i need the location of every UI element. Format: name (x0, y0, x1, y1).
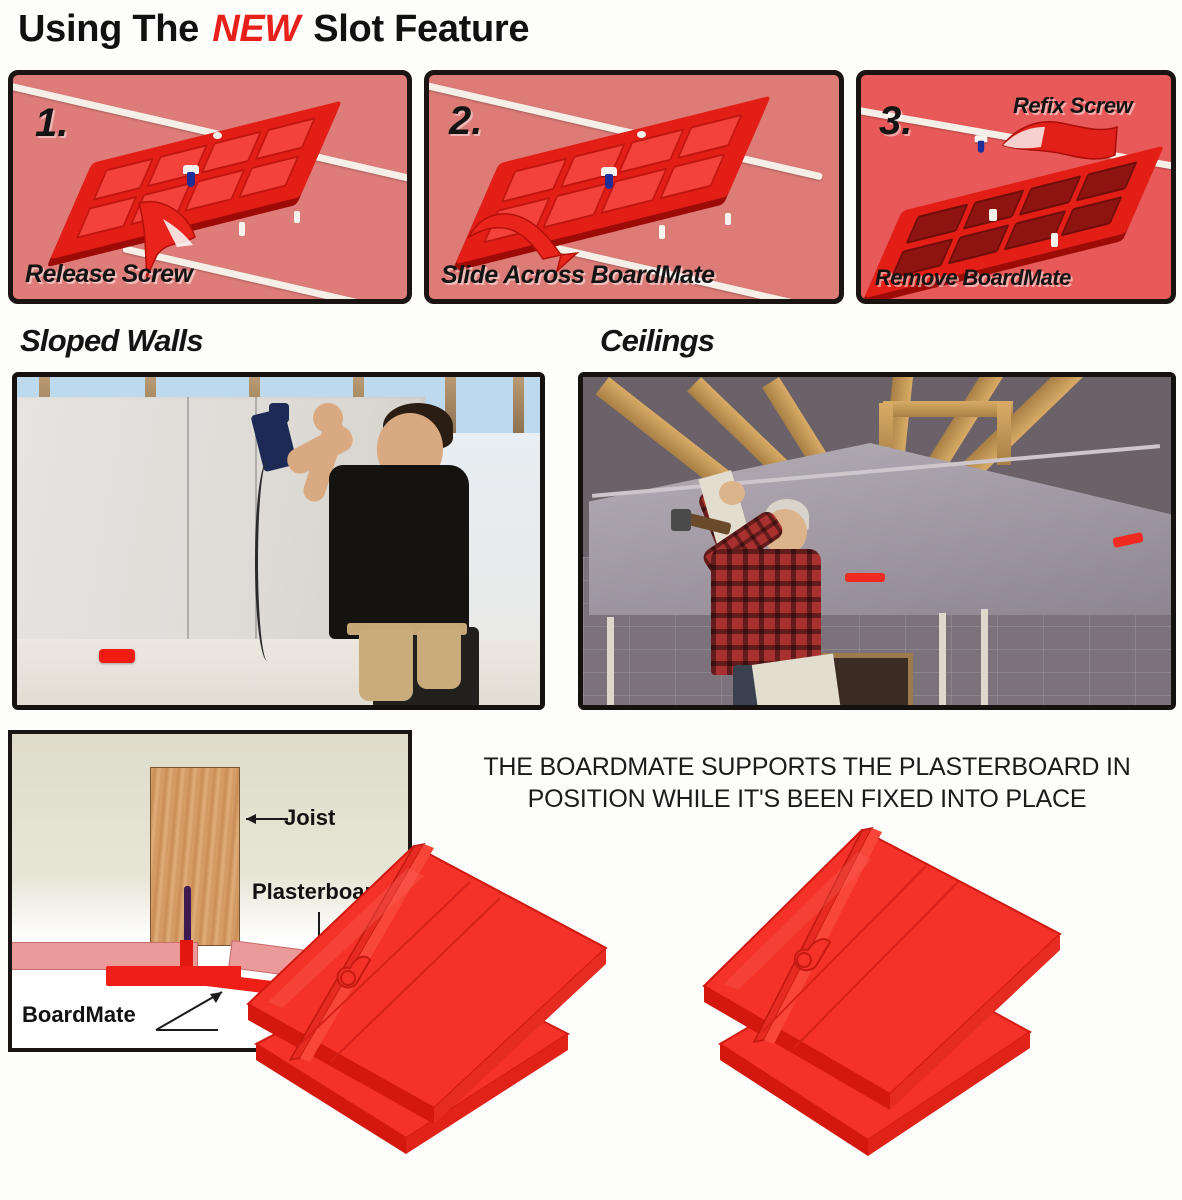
roof-rafter (513, 377, 524, 433)
screw-illustration (601, 167, 617, 189)
worker-shirt (711, 549, 821, 675)
ceiling-joist-cross (997, 403, 1011, 465)
page-title: Using The NEW Slot Feature (18, 8, 529, 51)
refix-screw-sheet (997, 111, 1123, 175)
step-caption-3: Remove BoardMate (875, 265, 1071, 291)
screw-slot-shape (184, 886, 191, 944)
timber-prop (607, 617, 614, 710)
section-heading-sloped-walls: Sloped Walls (20, 323, 203, 359)
tool-pouch (359, 629, 413, 701)
worker-hand-left (719, 481, 745, 505)
boardmate-illustration-3 (883, 183, 1145, 261)
step-caption-1: Release Screw (25, 260, 192, 289)
drill-chuck (269, 403, 289, 423)
worker-shirt (329, 465, 469, 639)
diagram-label-boardmate: BoardMate (22, 1002, 136, 1028)
board-nub (659, 225, 665, 239)
board-nub (637, 131, 646, 138)
title-suffix: Slot Feature (303, 8, 529, 50)
plasterboard-offcut (752, 654, 840, 710)
bottom-caption-line-1: THE BOARDMATE SUPPORTS THE PLASTERBOARD … (436, 752, 1178, 784)
title-prefix: Using The (18, 8, 209, 50)
screw-illustration (975, 135, 988, 153)
step-number-2: 2. (449, 99, 482, 144)
product-render-left (238, 808, 658, 1168)
drill-cord (255, 461, 280, 661)
steps-row: 1. Release Screw (8, 70, 1176, 304)
infographic-page: Using The NEW Slot Feature (0, 0, 1182, 1200)
boardmate-cell-grid (890, 162, 1137, 280)
boardmate-clip-in-photo (99, 649, 135, 663)
step-panel-2: 2. Slide Across BoardMate (424, 70, 844, 304)
screw-shank (978, 141, 984, 153)
boardmate-arrow (138, 984, 220, 1032)
photo-sloped-walls (12, 372, 545, 710)
timber-prop (981, 609, 988, 710)
joist-shape (150, 767, 240, 946)
board-nub (725, 213, 731, 225)
product-render-right (690, 800, 1090, 1180)
step-panel-3: Refix Screw 3. Remove BoardMate (856, 70, 1176, 304)
step-panel-1: 1. Release Screw (8, 70, 412, 304)
step-sublabel-refix-screw: Refix Screw (1013, 93, 1132, 119)
step-number-1: 1. (35, 101, 68, 146)
board-nub (294, 211, 300, 223)
step-caption-2: Slide Across BoardMate (441, 261, 714, 290)
board-nub (1051, 233, 1058, 247)
timber-prop (939, 613, 946, 710)
tool-pouch (417, 629, 461, 689)
board-nub (213, 132, 222, 139)
screw-illustration (183, 165, 199, 187)
title-highlight-new: NEW (209, 8, 303, 50)
screw-shank (605, 174, 613, 189)
step-number-3: 3. (879, 99, 912, 144)
photo-ceilings (578, 372, 1176, 710)
section-heading-ceilings: Ceilings (600, 323, 714, 359)
boardmate-clip-in-photo (845, 573, 885, 582)
hammer-head (671, 509, 691, 531)
screw-shank (187, 172, 195, 187)
ceiling-joist-cross (883, 401, 1013, 417)
board-nub (989, 209, 997, 221)
plasterboard-seam (187, 397, 189, 673)
